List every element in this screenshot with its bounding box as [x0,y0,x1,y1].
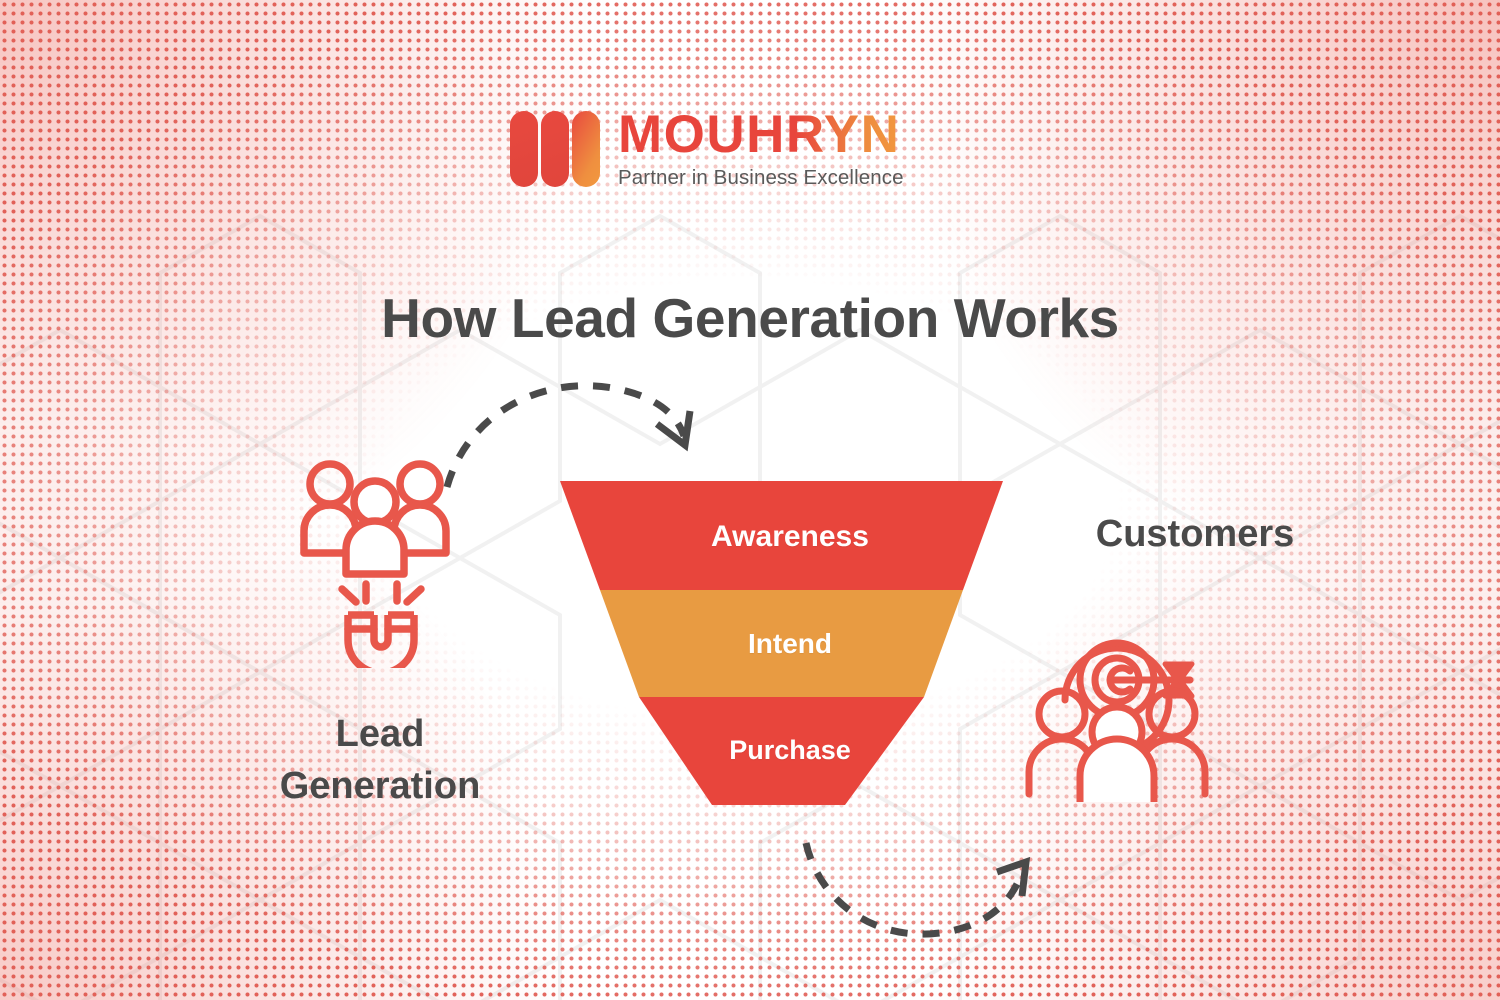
people-magnet-icon [300,458,450,668]
infographic-canvas: MOUHRYN Partner in Business Excellence H… [0,0,1500,1000]
lead-generation-label-line1: Lead [215,708,545,760]
funnel-label-intend: Intend [540,628,1040,660]
customers-icon-box [1022,622,1222,807]
brand-tagline: Partner in Business Excellence [618,168,904,189]
funnel-label-purchase: Purchase [540,735,1040,766]
brand-logo: MOUHRYN Partner in Business Excellence [510,108,904,191]
lead-generation-label-line2: Generation [215,760,545,812]
lead-funnel: Awareness Intend Purchase [540,465,1040,830]
lead-generation-label: Lead Generation [215,708,545,813]
funnel-label-awareness: Awareness [540,520,1040,554]
brand-text-block: MOUHRYN Partner in Business Excellence [618,108,904,191]
page-title: How Lead Generation Works [0,286,1500,350]
brand-name: MOUHRYN [618,108,904,161]
customers-label: Customers [1030,508,1360,560]
lead-generation-icon-box [300,458,450,673]
logo-bar-2 [541,111,569,187]
logo-bar-1 [510,111,538,187]
logo-bar-3 [572,111,600,187]
people-target-arrow-icon [1022,622,1222,802]
three-bars-logo-icon [510,111,600,187]
